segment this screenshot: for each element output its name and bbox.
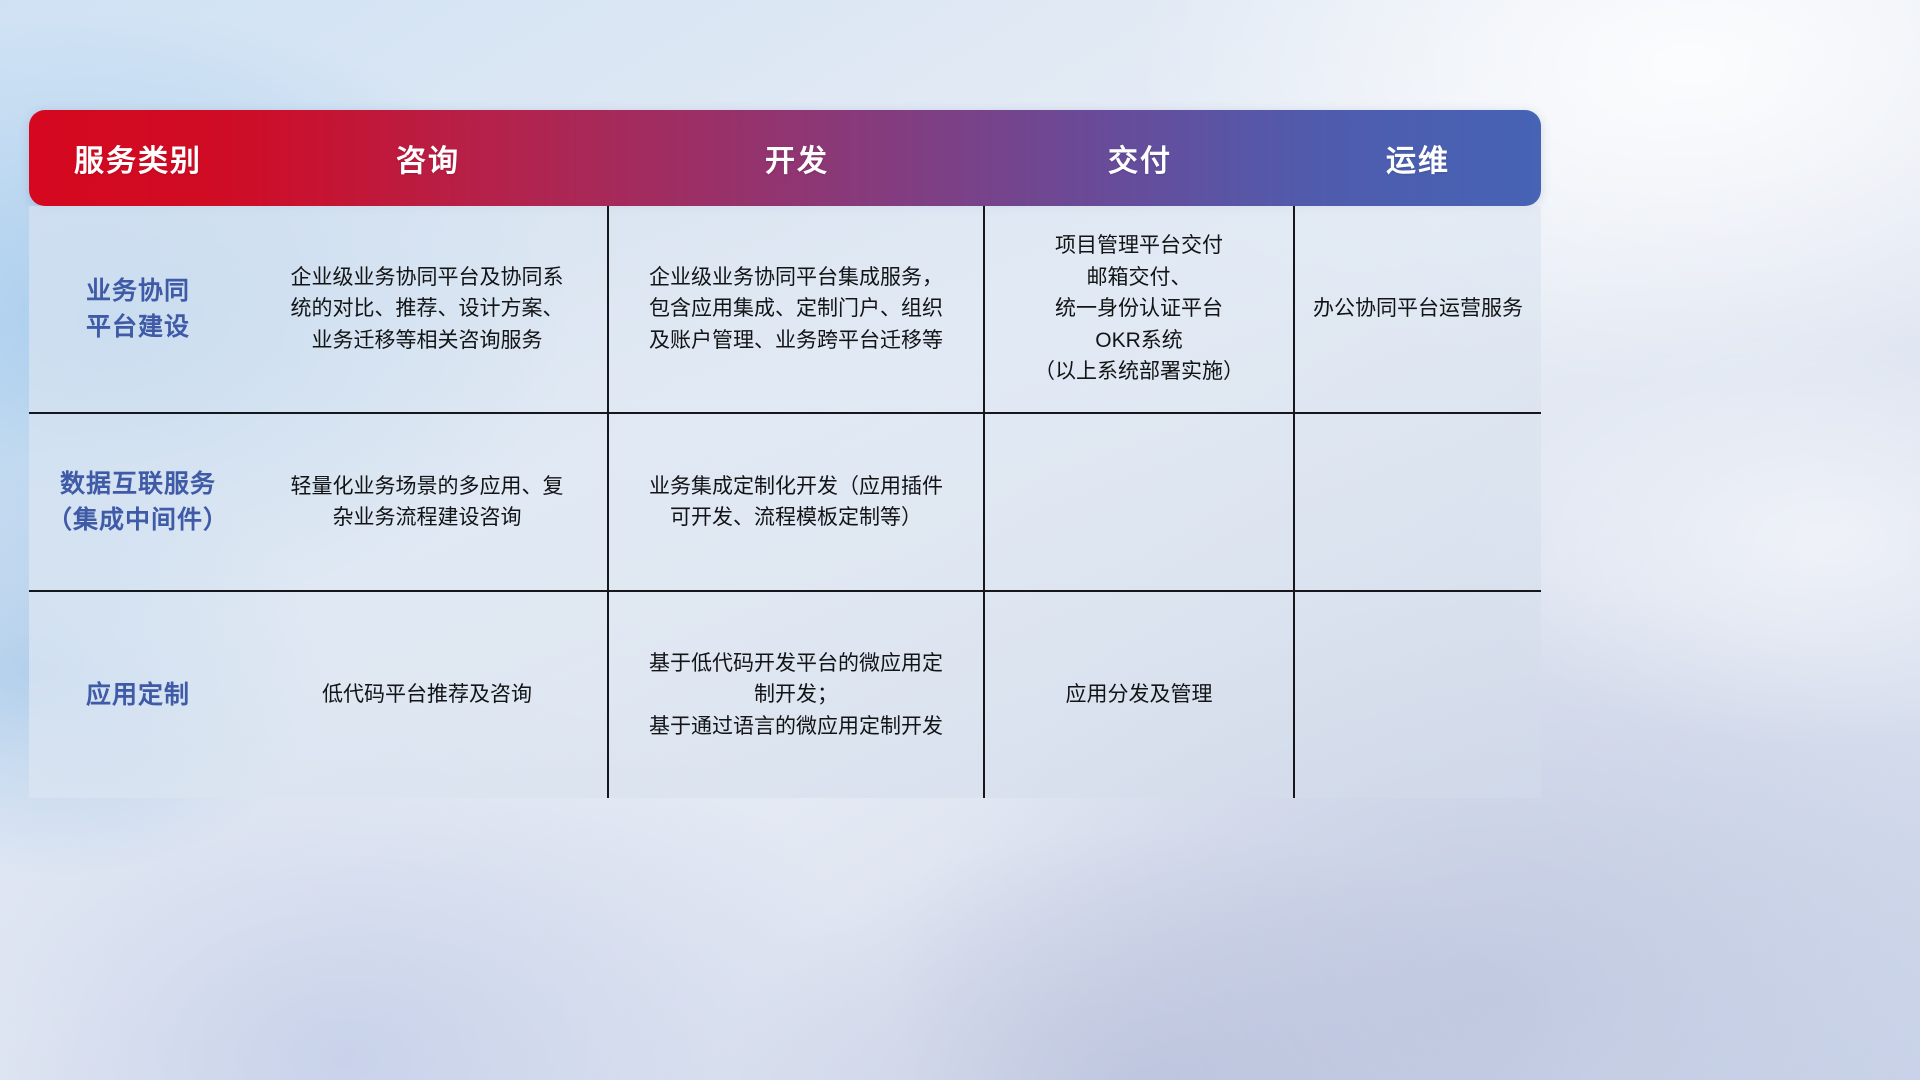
cell-delivery [985,414,1295,590]
column-header-consulting: 咨询 [247,110,609,206]
table-row: 业务协同 平台建设 企业级业务协同平台及协同系 统的对比、推荐、设计方案、 业务… [29,206,1541,414]
cell-operations: 办公协同平台运营服务 [1295,206,1541,412]
table-row: 应用定制 低代码平台推荐及咨询 基于低代码开发平台的微应用定 制开发； 基于通过… [29,592,1541,798]
table-header-row: 服务类别 咨询 开发 交付 运维 [29,110,1541,206]
row-category-label: 数据互联服务 （集成中间件） [29,414,247,590]
cell-delivery: 应用分发及管理 [985,592,1295,798]
cell-consulting: 企业级业务协同平台及协同系 统的对比、推荐、设计方案、 业务迁移等相关咨询服务 [247,206,609,412]
cell-development: 企业级业务协同平台集成服务， 包含应用集成、定制门户、组织 及账户管理、业务跨平… [609,206,985,412]
cell-operations [1295,414,1541,590]
column-header-operations: 运维 [1295,110,1541,206]
service-matrix-table: 服务类别 咨询 开发 交付 运维 业务协同 平台建设 企业级业务协同平台及协同系… [29,110,1541,780]
column-header-category: 服务类别 [29,110,247,206]
cell-development: 基于低代码开发平台的微应用定 制开发； 基于通过语言的微应用定制开发 [609,592,985,798]
column-header-delivery: 交付 [985,110,1295,206]
cell-development: 业务集成定制化开发（应用插件 可开发、流程模板定制等） [609,414,985,590]
cell-operations [1295,592,1541,798]
cell-consulting: 低代码平台推荐及咨询 [247,592,609,798]
cell-delivery: 项目管理平台交付 邮箱交付、 统一身份认证平台 OKR系统 （以上系统部署实施） [985,206,1295,412]
column-header-development: 开发 [609,110,985,206]
row-category-label: 业务协同 平台建设 [29,206,247,412]
table-row: 数据互联服务 （集成中间件） 轻量化业务场景的多应用、复 杂业务流程建设咨询 业… [29,414,1541,592]
table-body: 业务协同 平台建设 企业级业务协同平台及协同系 统的对比、推荐、设计方案、 业务… [29,206,1541,798]
cell-consulting: 轻量化业务场景的多应用、复 杂业务流程建设咨询 [247,414,609,590]
row-category-label: 应用定制 [29,592,247,798]
